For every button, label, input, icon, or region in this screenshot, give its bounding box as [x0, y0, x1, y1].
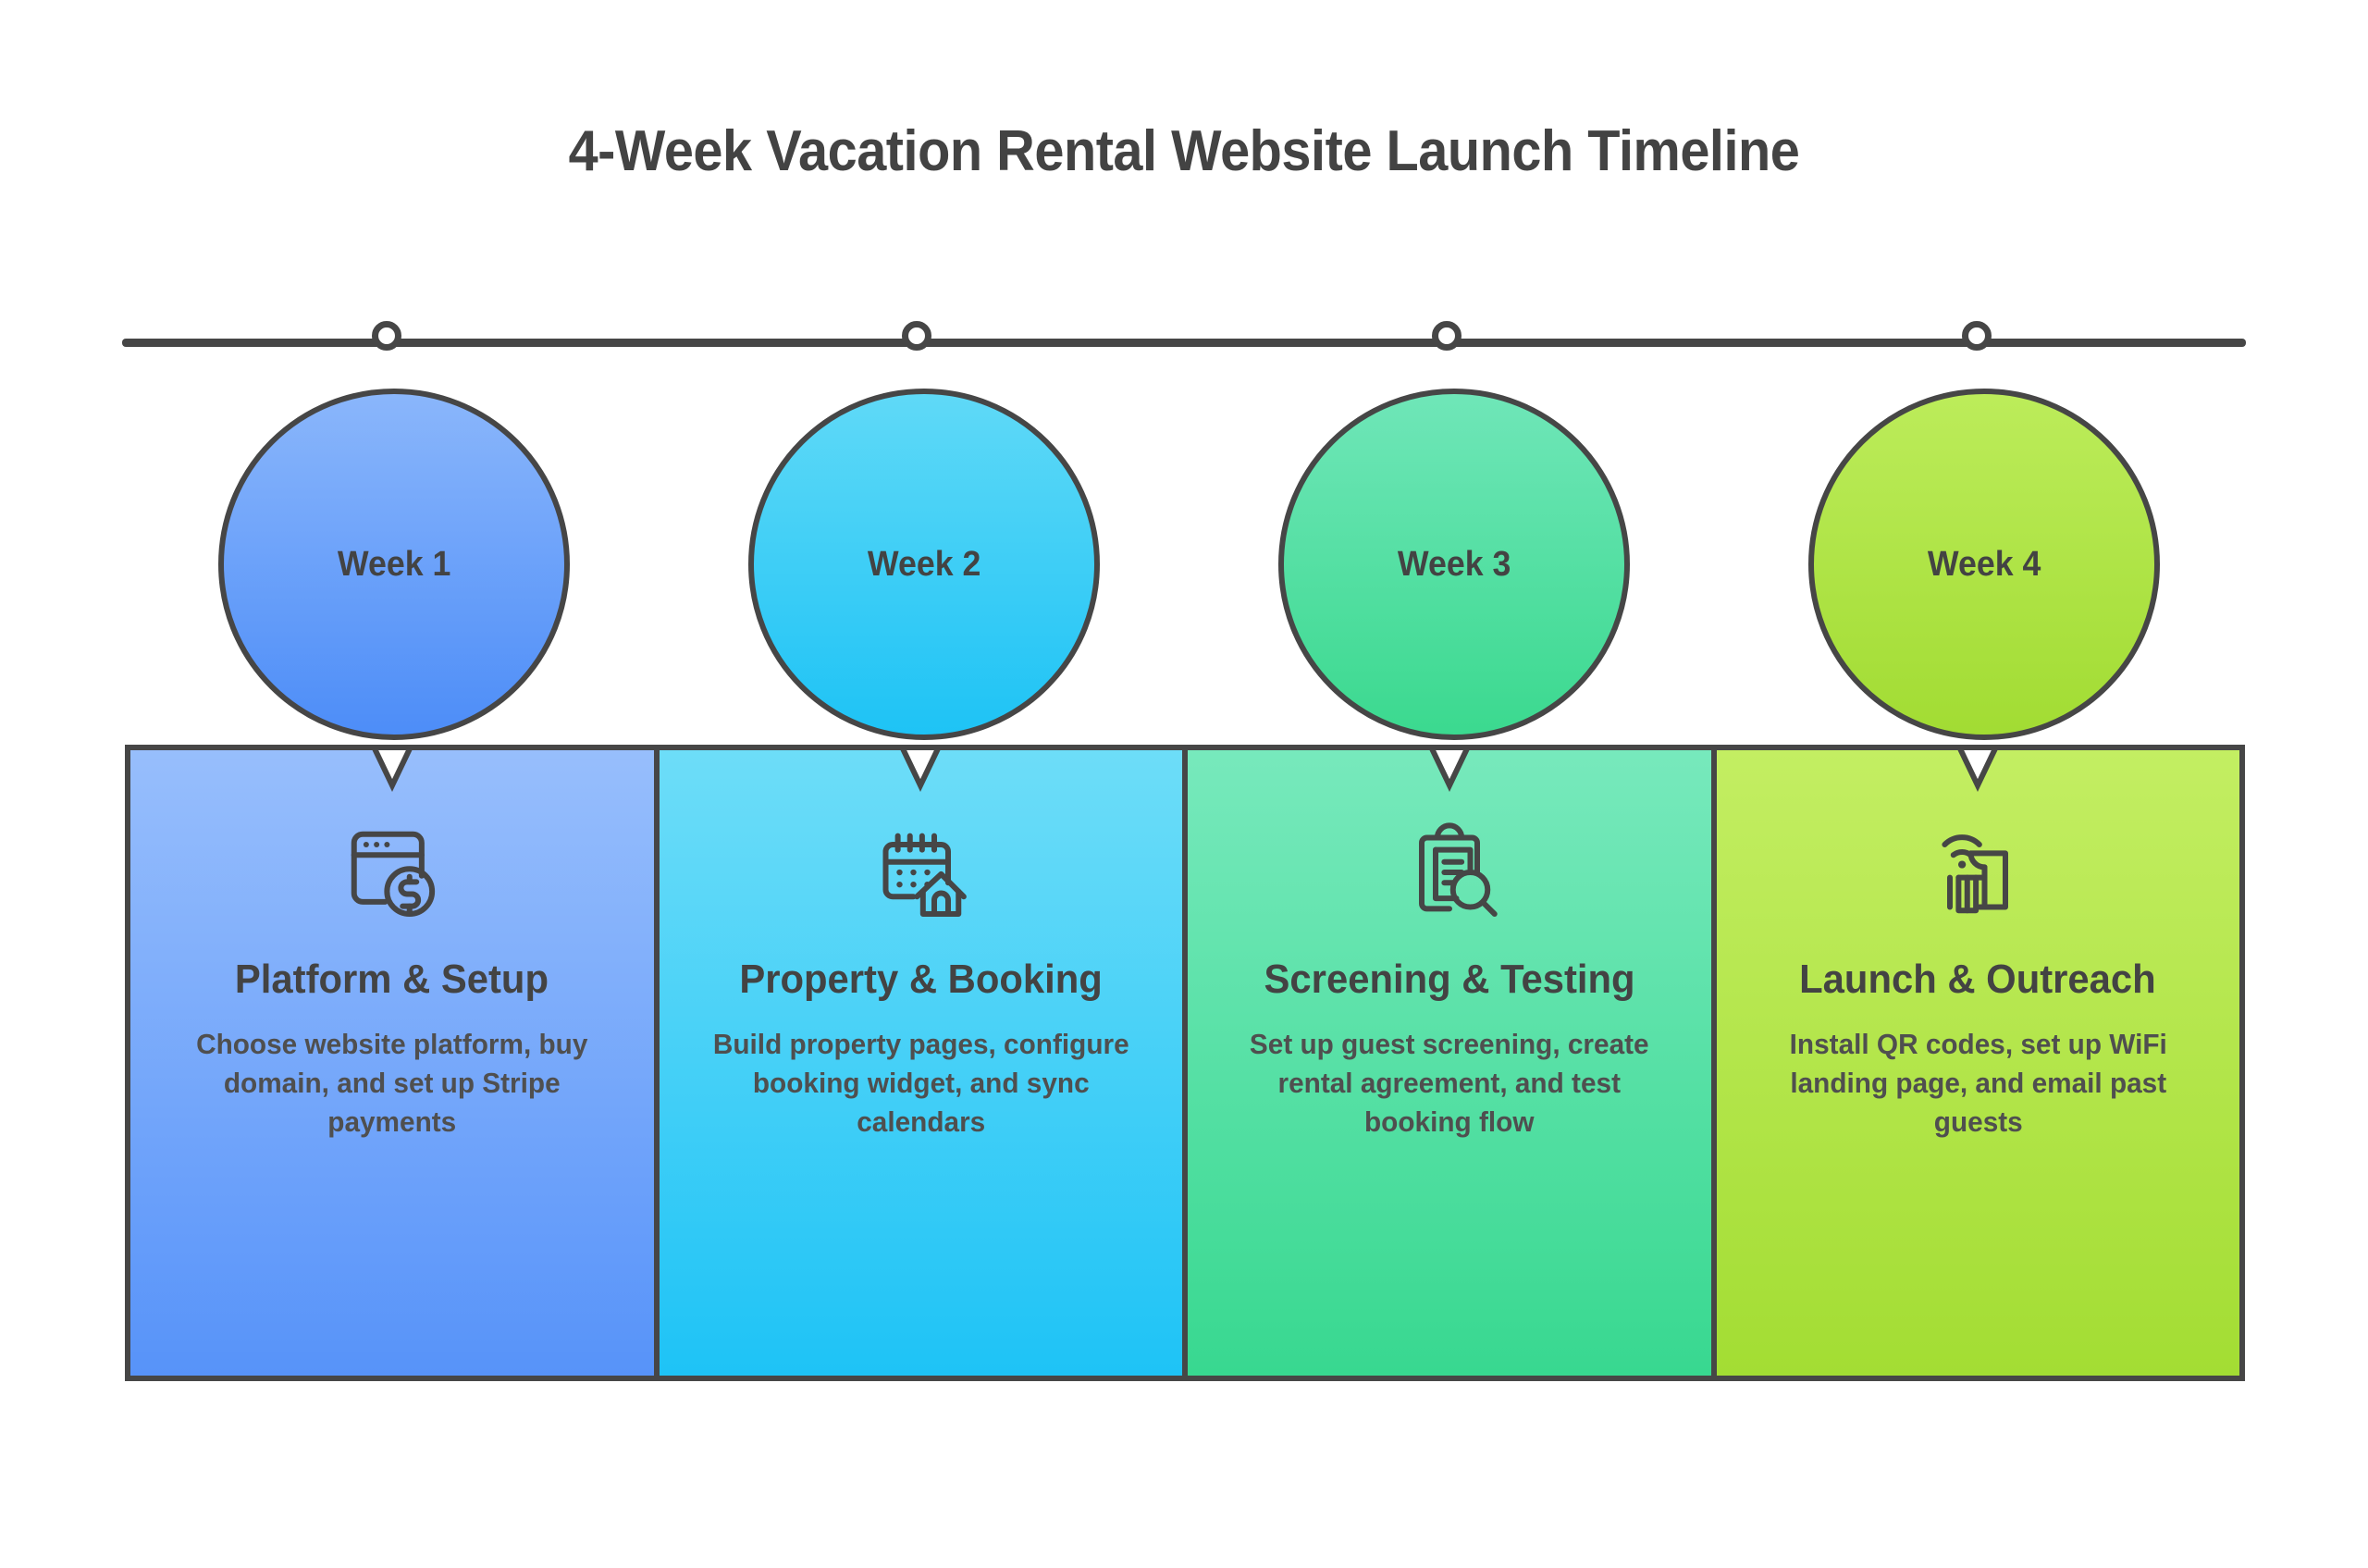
week-circle-2[interactable]: Week 2	[748, 389, 1100, 740]
phase-title-week-3: Screening & Testing	[1248, 957, 1650, 1001]
week-circle-4[interactable]: Week 4	[1808, 389, 2160, 740]
phase-description-week-3: Set up guest screening, create rental ag…	[1198, 1025, 1700, 1142]
phase-card-week-3[interactable]: Screening & Testing Set up guest screeni…	[1182, 750, 1711, 1376]
page-title: 4-Week Vacation Rental Website Launch Ti…	[83, 118, 2286, 184]
phase-card-week-4[interactable]: Launch & Outreach Install QR codes, set …	[1711, 750, 2240, 1376]
milestone-marker-week-2[interactable]	[902, 321, 931, 351]
phase-description-week-4: Install QR codes, set up WiFi landing pa…	[1727, 1025, 2229, 1142]
card-notch-icon	[1935, 750, 2020, 796]
milestone-marker-week-4[interactable]	[1962, 321, 1992, 351]
wifi-qr-signage-icon	[1922, 817, 2033, 928]
clipboard-magnifier-icon	[1394, 817, 1505, 928]
week-circle-label-2: Week 2	[868, 545, 980, 585]
week-circle-1[interactable]: Week 1	[218, 389, 570, 740]
week-circle-label-4: Week 4	[1928, 545, 2041, 585]
phase-title-week-4: Launch & Outreach	[1783, 957, 2172, 1001]
phase-cards-row: Platform & Setup Choose website platform…	[125, 745, 2245, 1381]
card-notch-icon	[350, 750, 435, 796]
week-circle-3[interactable]: Week 3	[1278, 389, 1630, 740]
milestone-marker-week-1[interactable]	[372, 321, 401, 351]
week-circle-label-3: Week 3	[1398, 545, 1511, 585]
milestone-marker-week-3[interactable]	[1432, 321, 1461, 351]
week-circle-label-1: Week 1	[338, 545, 450, 585]
phase-description-week-1: Choose website platform, buy domain, and…	[141, 1025, 643, 1142]
calendar-house-icon	[865, 817, 976, 928]
phase-card-week-1[interactable]: Platform & Setup Choose website platform…	[130, 750, 654, 1376]
card-notch-icon	[1407, 750, 1492, 796]
phase-description-week-2: Build property pages, configure booking …	[670, 1025, 1172, 1142]
phase-card-week-2[interactable]: Property & Booking Build property pages,…	[654, 750, 1183, 1376]
browser-window-dollar-icon	[337, 817, 448, 928]
phase-title-week-1: Platform & Setup	[219, 957, 564, 1001]
card-notch-icon	[878, 750, 963, 796]
phase-title-week-2: Property & Booking	[723, 957, 1118, 1001]
timeline-rail	[122, 339, 2246, 347]
